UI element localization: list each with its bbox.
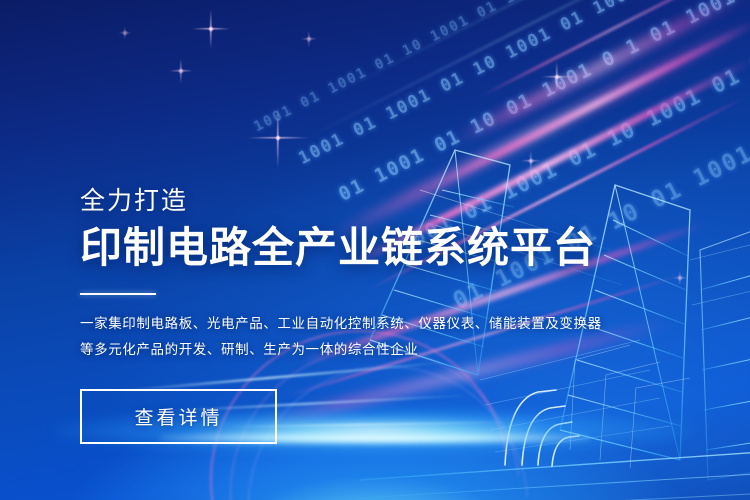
star-sparkle-icon [190,8,232,50]
hero-kicker: 全力打造 [80,186,680,217]
hero-description-line-2: 等多元化产品的开发、研制、生产为一体的综合性企业 [80,337,680,363]
divider-rule [80,293,156,295]
binary-stream: 1001 01 1001 01 10 1001 01 100 1 01 1001 [295,0,740,169]
star-sparkle-icon [245,105,311,171]
star-sparkle-icon [520,150,542,172]
star-sparkle-icon [168,58,194,84]
guide-line [329,0,749,98]
star-sparkle-icon [540,60,574,94]
hero-content: 全力打造 印制电路全产业链系统平台 一家集印制电路板、光电产品、工业自动化控制系… [80,186,680,444]
light-trail [428,17,750,191]
star-sparkle-icon [118,26,132,40]
hero-description-line-1: 一家集印制电路板、光电产品、工业自动化控制系统、仪器仪表、储能装置及变换器 [80,311,680,337]
guide-line [299,0,746,143]
star-sparkle-icon [300,30,318,48]
view-details-button[interactable]: 查看详情 [80,389,277,444]
light-trail [452,0,750,146]
light-trail [479,0,748,98]
binary-stream: 01 1001 01 10 01 1001 0 1 01 1001 01 10 [335,0,750,206]
hero-banner: 1001 01 1001 01 10 1001 01 100 1 01 1001… [0,0,750,500]
binary-stream: 1001 01 1001 01 10 1001 01 100 1 01 1001 [251,0,630,135]
hero-description: 一家集印制电路板、光电产品、工业自动化控制系统、仪器仪表、储能装置及变换器 等多… [80,311,680,363]
hero-headline: 印制电路全产业链系统平台 [80,225,680,271]
